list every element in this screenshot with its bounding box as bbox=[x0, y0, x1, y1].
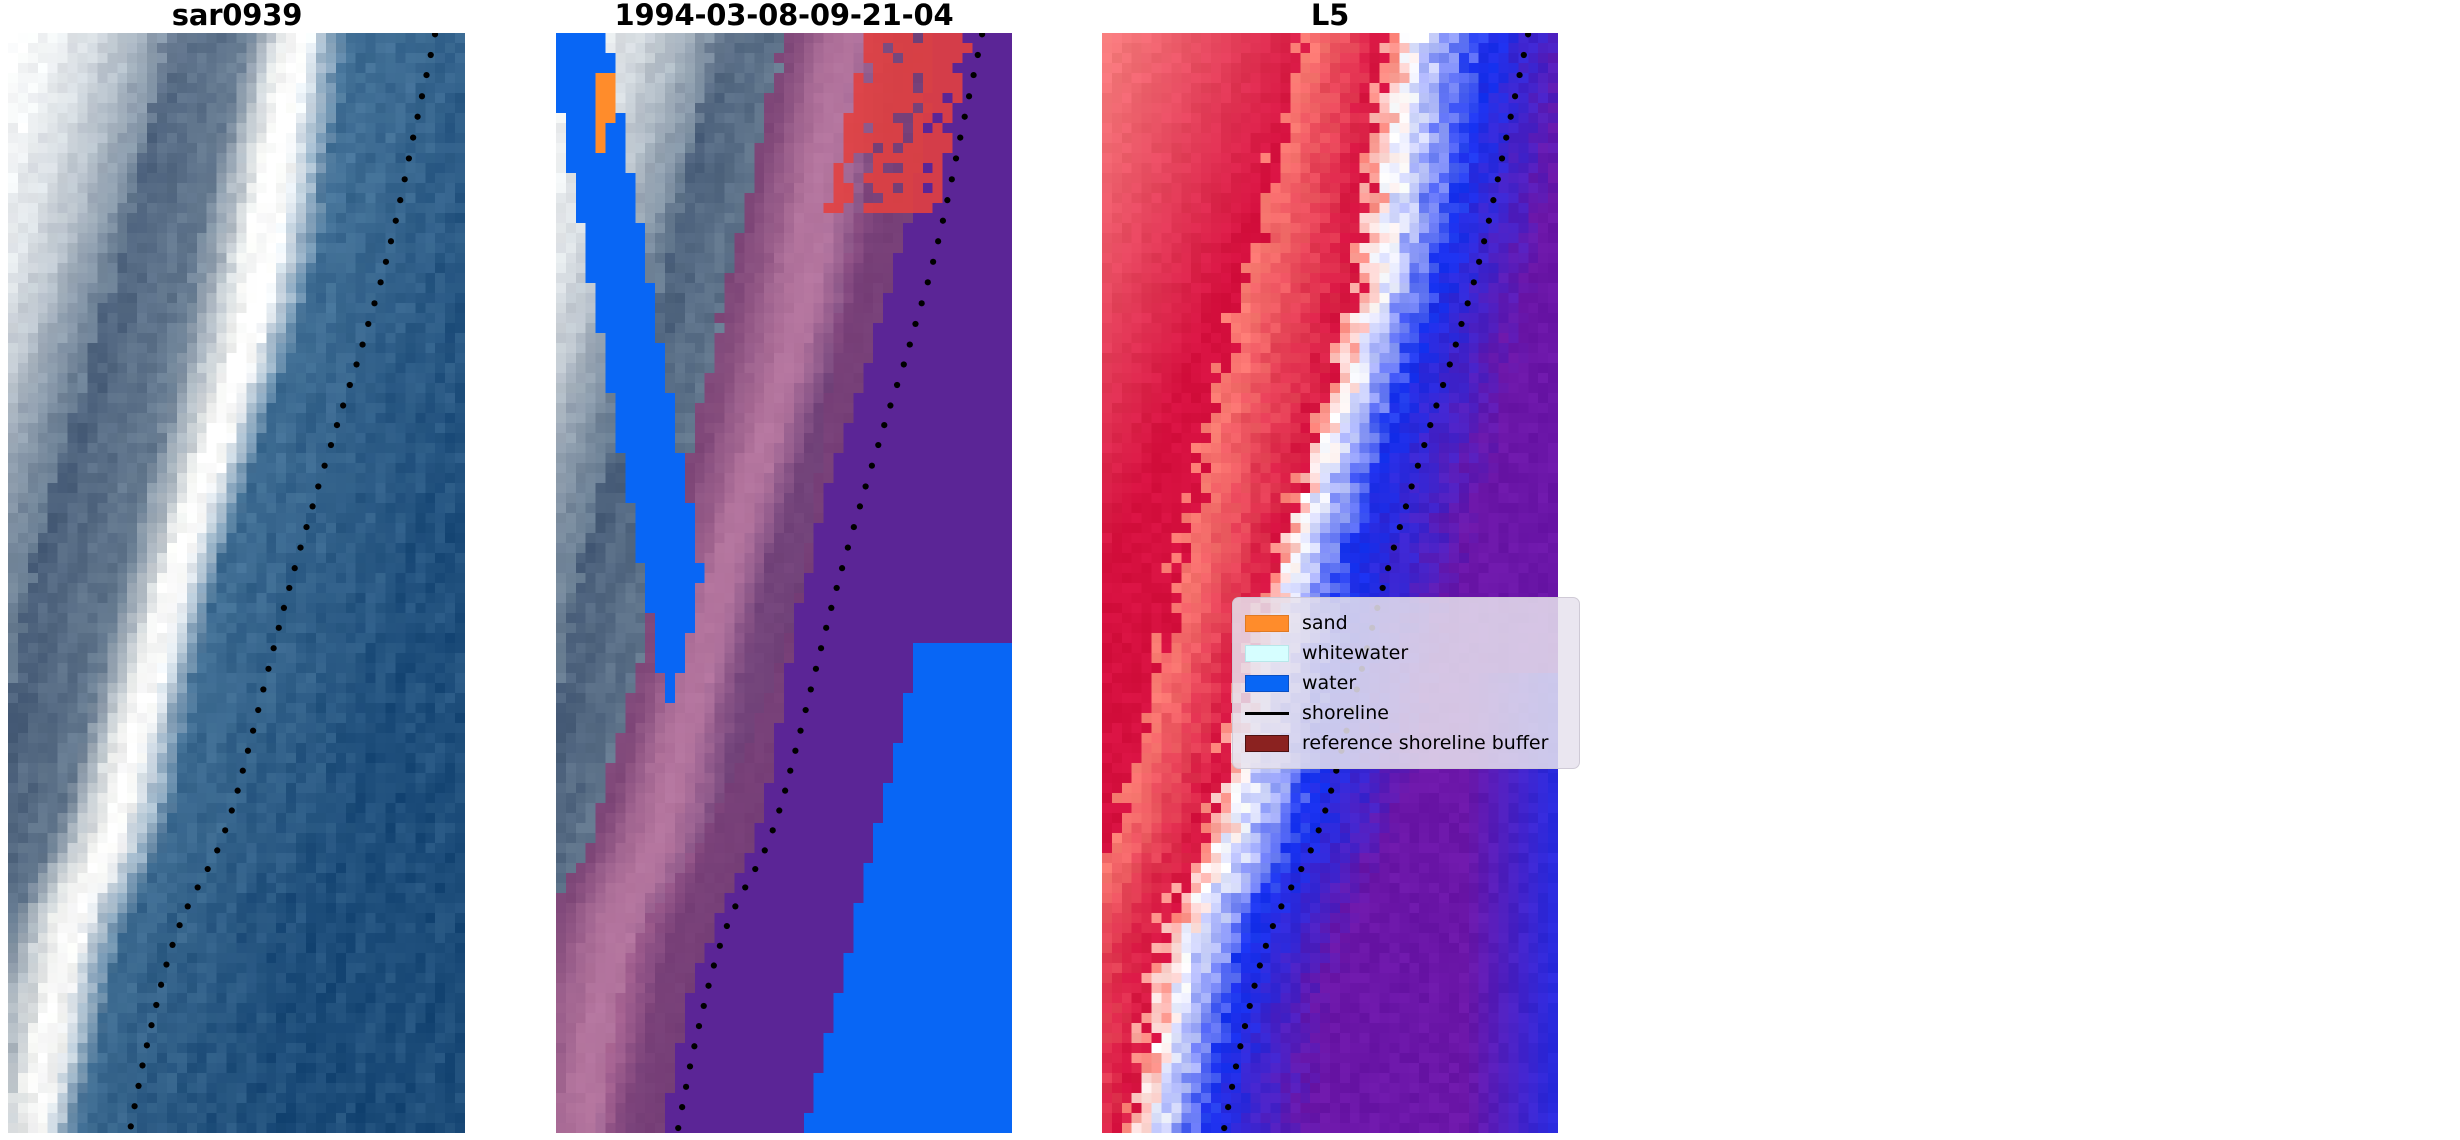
panel-title-rgb: sar0939 bbox=[0, 0, 474, 30]
classification-image[interactable] bbox=[556, 33, 1012, 1133]
rgb-image[interactable] bbox=[8, 33, 465, 1133]
legend-item-reference-buffer[interactable]: reference shoreline buffer bbox=[1245, 728, 1567, 758]
legend-swatch-whitewater bbox=[1245, 645, 1289, 662]
legend-swatch-sand bbox=[1245, 615, 1289, 632]
legend-label-shoreline: shoreline bbox=[1302, 704, 1389, 723]
legend-item-shoreline[interactable]: shoreline bbox=[1245, 698, 1567, 728]
legend-swatch-reference-buffer bbox=[1245, 735, 1289, 752]
legend-item-sand[interactable]: sand bbox=[1245, 608, 1567, 638]
panel-title-index: L5 bbox=[1092, 0, 1568, 30]
rgb-pixel-raster bbox=[8, 33, 465, 1133]
legend-label-water: water bbox=[1302, 674, 1356, 693]
legend-item-whitewater[interactable]: whitewater bbox=[1245, 638, 1567, 668]
classification-pixel-raster bbox=[556, 33, 1012, 1133]
legend-label-whitewater: whitewater bbox=[1302, 644, 1408, 663]
panel-title-classification: 1994-03-08-09-21-04 bbox=[546, 0, 1022, 30]
index-image[interactable] bbox=[1102, 33, 1558, 1133]
legend-swatch-water bbox=[1245, 675, 1289, 692]
panel-classification: 1994-03-08-09-21-04 bbox=[546, 0, 1022, 1140]
index-pixel-raster bbox=[1102, 33, 1558, 1133]
class-legend[interactable]: sand whitewater water shoreline referenc… bbox=[1232, 597, 1580, 769]
legend-line-shoreline bbox=[1245, 705, 1289, 722]
legend-item-water[interactable]: water bbox=[1245, 668, 1567, 698]
legend-label-reference-buffer: reference shoreline buffer bbox=[1302, 734, 1548, 753]
panel-index: L5 bbox=[1092, 0, 1568, 1140]
figure-canvas: sar0939 1994-03-08-09-21-04 L5 sand whit… bbox=[0, 0, 2460, 1140]
legend-label-sand: sand bbox=[1302, 614, 1348, 633]
panel-rgb: sar0939 bbox=[0, 0, 474, 1140]
